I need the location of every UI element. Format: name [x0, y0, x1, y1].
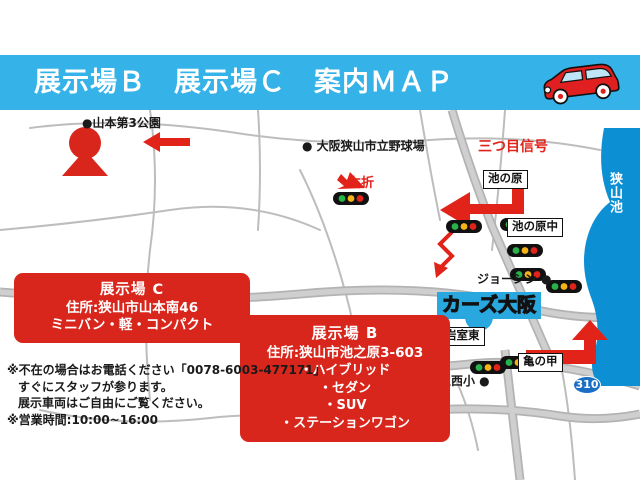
callout-b-address: 住所:狭山市池之原3-603 [246, 344, 444, 362]
page-title: 展示場Ｂ 展示場Ｃ 案内ＭＡＰ [34, 69, 454, 96]
red-minivan-icon [534, 61, 626, 105]
intersection-ikenohara: 池の原 [483, 170, 528, 189]
footer-line-2: すぐにスタッフが参ります。 [7, 379, 326, 396]
callout-c-categories: ミニバン・軽・コンパクト [20, 317, 244, 334]
intersection-line1: 池の原中 [512, 220, 558, 234]
landmark-yamamoto-park: ●山本第3公園 [82, 117, 161, 130]
intersection-kamenoko: 亀の甲 [518, 353, 563, 372]
footer-note: ※不在の場合はお電話ください「0078-6003-477171」 すぐにスタッフ… [7, 362, 326, 428]
route-shield-310: 310 [573, 376, 601, 394]
destination-label-cars-osaka: カーズ大阪 [437, 292, 541, 319]
annotation-third-signal: 三つ目信号 [478, 136, 548, 156]
callout-c-title: 展示場 C [20, 281, 244, 300]
footer-line-3: 展示車両はご自由にご覧ください。 [7, 395, 326, 412]
landmark-joshin: ジョーシン ● [477, 273, 551, 286]
landmark-baseball-stadium: ● 大阪狭山市立野球場 [302, 140, 425, 153]
intersection-ikenoharanaka: 池の原中 [507, 218, 563, 237]
annotation-turn-right: 右折 [348, 172, 374, 191]
route-arrow-west [143, 132, 190, 152]
callout-tenjijo-c[interactable]: 展示場 C 住所:狭山市山本南46 ミニバン・軽・コンパクト [14, 273, 250, 343]
map-pin-c-stem [62, 150, 108, 176]
footer-line-4: ※営業時間:10:00~16:00 [7, 412, 326, 429]
map-flyer: 展示場Ｂ 展示場Ｃ 案内ＭＡＰ [0, 0, 640, 480]
callout-c-address: 住所:狭山市山本南46 [20, 300, 244, 317]
lake-label-sayama-pond: 狭山池 [607, 172, 622, 214]
header-banner: 展示場Ｂ 展示場Ｃ 案内ＭＡＰ [0, 55, 640, 110]
footer-line-1: ※不在の場合はお電話ください「0078-6003-477171」 [7, 362, 326, 379]
intersection-line1: 岩室東 [445, 329, 480, 343]
route-arrow-to-b [440, 232, 452, 268]
callout-b-title: 展示場 B [246, 323, 444, 344]
intersection-line1: 亀の甲 [523, 355, 558, 369]
intersection-line1: 池の原 [488, 172, 523, 186]
